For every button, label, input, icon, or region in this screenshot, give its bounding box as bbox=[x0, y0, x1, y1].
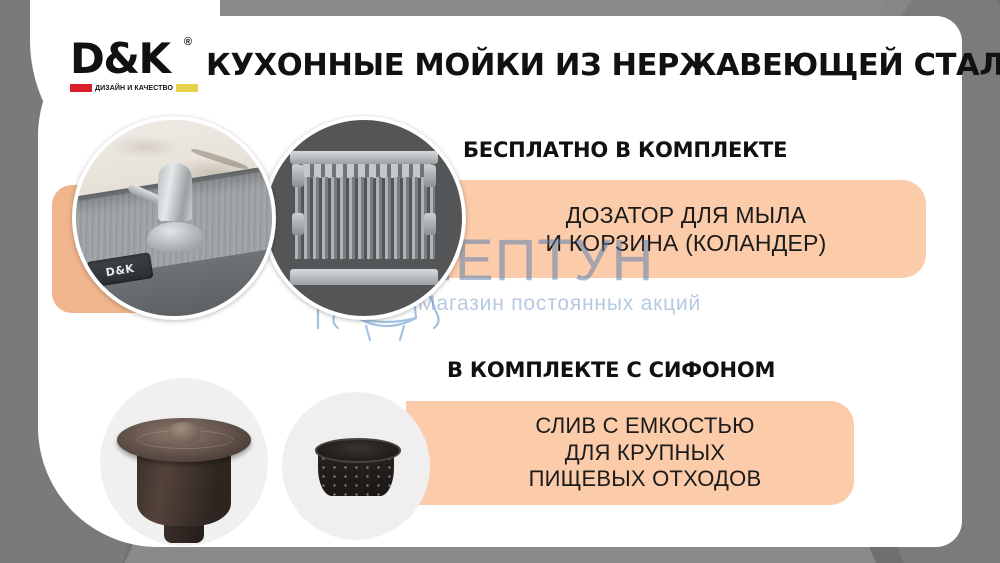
section-title-with-siphon: В КОМПЛЕКТЕ С СИФОНОМ bbox=[447, 358, 775, 382]
tagline-bar-yellow-icon bbox=[176, 84, 198, 92]
banner-line: И КОРЗИНА (КОЛАНДЕР) bbox=[546, 229, 827, 257]
section-title-free-included: БЕСПЛАТНО В КОМПЛЕКТЕ bbox=[463, 138, 787, 162]
colander-teeth bbox=[292, 164, 435, 178]
drain-strainer-photo-content bbox=[100, 378, 268, 546]
header: D&K ® ДИЗАЙН И КАЧЕСТВО КУХОННЫЕ МОЙКИ И… bbox=[70, 34, 920, 96]
banner-line: СЛИВ С ЕМКОСТЬЮ bbox=[529, 413, 762, 440]
banner-free-included-text: ДОЗАТОР ДЛЯ МЫЛА И КОРЗИНА (КОЛАНДЕР) bbox=[506, 201, 827, 257]
brand-logo: D&K ® ДИЗАЙН И КАЧЕСТВО bbox=[70, 38, 190, 92]
dispenser-pump-head bbox=[158, 163, 192, 221]
banner-free-included: ДОЗАТОР ДЛЯ МЫЛА И КОРЗИНА (КОЛАНДЕР) bbox=[406, 180, 926, 278]
drain-strainer-photo bbox=[100, 378, 268, 546]
colander-clip bbox=[292, 213, 304, 235]
soap-dispenser-photo-content: D&K bbox=[76, 120, 272, 316]
drain-knob bbox=[167, 422, 201, 444]
colander-photo-content bbox=[266, 120, 462, 316]
colander-rods bbox=[292, 177, 435, 258]
banner-line: ДОЗАТОР ДЛЯ МЫЛА bbox=[546, 201, 827, 229]
marble-vein bbox=[190, 147, 248, 171]
waste-basket-photo-content bbox=[282, 392, 430, 540]
banner-line: ПИЩЕВЫХ ОТХОДОВ bbox=[529, 466, 762, 493]
colander-bottom-bar bbox=[290, 269, 439, 285]
dispenser-base bbox=[147, 222, 205, 252]
banner-line: ДЛЯ КРУПНЫХ bbox=[529, 440, 762, 467]
colander-clip bbox=[424, 213, 436, 235]
colander-top-bar bbox=[290, 151, 439, 164]
brand-logo-word: D&K bbox=[70, 38, 190, 80]
colander-clip bbox=[292, 165, 304, 187]
banner-with-siphon: СЛИВ С ЕМКОСТЬЮ ДЛЯ КРУПНЫХ ПИЩЕВЫХ ОТХО… bbox=[406, 401, 854, 505]
waste-basket-rim bbox=[315, 438, 402, 463]
registered-trademark-icon: ® bbox=[184, 36, 192, 48]
brand-tagline-row: ДИЗАЙН И КАЧЕСТВО bbox=[70, 84, 188, 92]
colander-photo bbox=[262, 116, 466, 320]
colander-clip bbox=[424, 165, 436, 187]
soap-dispenser-photo: D&K bbox=[72, 116, 276, 320]
page-title: КУХОННЫЕ МОЙКИ ИЗ НЕРЖАВЕЮЩЕЙ СТАЛИ bbox=[206, 48, 1000, 83]
roll-up-colander bbox=[290, 151, 439, 284]
banner-with-siphon-text: СЛИВ С ЕМКОСТЬЮ ДЛЯ КРУПНЫХ ПИЩЕВЫХ ОТХО… bbox=[499, 413, 762, 493]
promo-banner-slide: D&K ® ДИЗАЙН И КАЧЕСТВО КУХОННЫЕ МОЙКИ И… bbox=[0, 0, 1000, 563]
waste-basket-photo bbox=[282, 392, 430, 540]
tagline-bar-red-icon bbox=[70, 84, 92, 92]
sink-brand-plate-text: D&K bbox=[105, 262, 135, 279]
brand-tagline-text: ДИЗАЙН И КАЧЕСТВО bbox=[95, 85, 173, 92]
